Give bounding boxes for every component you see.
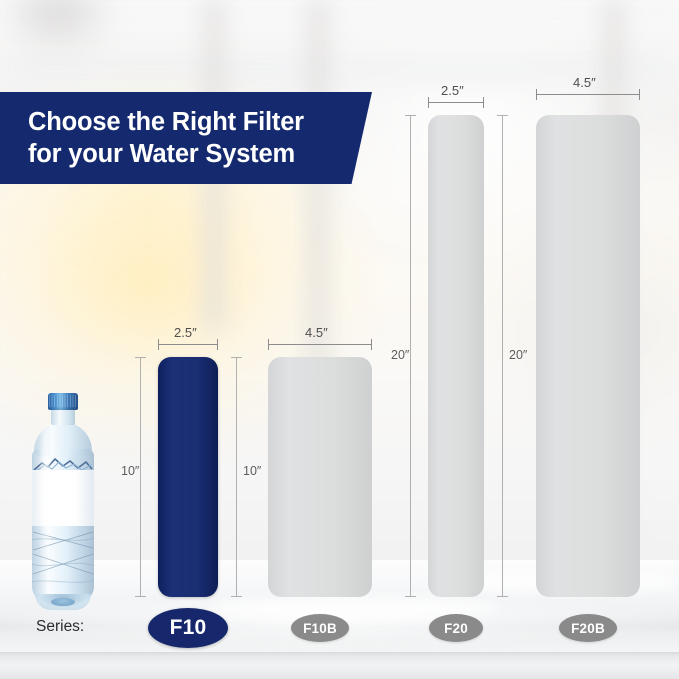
series-pill-f20b[interactable]: F20B <box>559 614 617 642</box>
countertop-front-edge <box>0 652 679 679</box>
background-streak-top <box>0 0 679 26</box>
width-dimension-label-f10b: 4.5″ <box>305 325 328 340</box>
height-dimension-label-right-f20: 20″ <box>509 348 527 362</box>
title-line-2: for your Water System <box>28 138 295 170</box>
width-dimension-label-f10: 2.5″ <box>174 325 197 340</box>
height-dimension-label-left-f10: 10″ <box>121 464 139 478</box>
series-label: Series: <box>36 618 84 636</box>
water-bottle <box>27 393 99 608</box>
height-dimension-label-left-f20: 20″ <box>391 348 409 362</box>
bottle-cap-ridges <box>49 395 77 407</box>
bottle-neck <box>51 409 75 425</box>
series-pill-f10[interactable]: F10 <box>148 608 228 648</box>
title-banner: Choose the Right Filter for your Water S… <box>0 92 372 184</box>
height-dimension-line-left-f10 <box>140 357 141 597</box>
filter-body-f20[interactable] <box>428 115 484 597</box>
bottle-base-dimple <box>51 598 75 606</box>
width-dimension-line-f10b <box>268 344 372 345</box>
series-pill-f20[interactable]: F20 <box>429 614 483 642</box>
filter-comparison-diagram: Choose the Right Filter for your Water S… <box>0 0 679 679</box>
width-dimension-line-f20b <box>536 94 640 95</box>
series-pill-f10b[interactable]: F10B <box>291 614 349 642</box>
width-dimension-line-f10 <box>158 344 218 345</box>
height-dimension-line-right-f20 <box>502 115 503 597</box>
title-line-1: Choose the Right Filter <box>28 106 304 138</box>
width-dimension-label-f20: 2.5″ <box>441 83 464 98</box>
width-dimension-line-f20 <box>428 102 484 103</box>
filter-body-f10b[interactable] <box>268 357 372 597</box>
width-dimension-label-f20b: 4.5″ <box>573 75 596 90</box>
height-dimension-line-left-f20 <box>410 115 411 597</box>
height-dimension-line-right-f10 <box>236 357 237 597</box>
bottle-cap-icon <box>48 393 78 410</box>
filter-body-f10[interactable] <box>158 357 218 597</box>
bottle-highlight <box>41 427 50 587</box>
filter-body-f20b[interactable] <box>536 115 640 597</box>
height-dimension-label-right-f10: 10″ <box>243 464 261 478</box>
